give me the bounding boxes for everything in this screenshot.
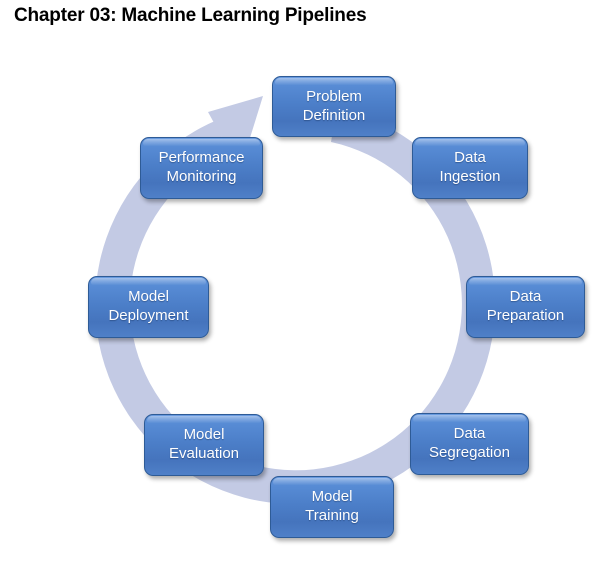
node-label: Model Training xyxy=(299,488,365,525)
node-model-deployment[interactable]: Model Deployment xyxy=(88,276,209,338)
node-performance-monitoring[interactable]: Performance Monitoring xyxy=(140,137,263,199)
page-title: Chapter 03: Machine Learning Pipelines xyxy=(14,5,366,27)
node-data-segregation[interactable]: Data Segregation xyxy=(410,413,529,475)
node-data-preparation[interactable]: Data Preparation xyxy=(466,276,585,338)
node-label: Data Ingestion xyxy=(434,149,507,186)
node-label: Problem Definition xyxy=(297,88,372,125)
node-model-training[interactable]: Model Training xyxy=(270,476,394,538)
node-label: Model Evaluation xyxy=(163,426,245,463)
node-problem-definition[interactable]: Problem Definition xyxy=(272,76,396,137)
node-label: Model Deployment xyxy=(102,288,194,325)
node-label: Data Segregation xyxy=(423,425,516,462)
node-data-ingestion[interactable]: Data Ingestion xyxy=(412,137,528,199)
node-label: Data Preparation xyxy=(481,288,571,325)
node-model-evaluation[interactable]: Model Evaluation xyxy=(144,414,264,476)
node-label: Performance Monitoring xyxy=(153,149,251,186)
ml-pipeline-cycle-diagram: Problem Definition Data Ingestion Data P… xyxy=(0,48,603,574)
